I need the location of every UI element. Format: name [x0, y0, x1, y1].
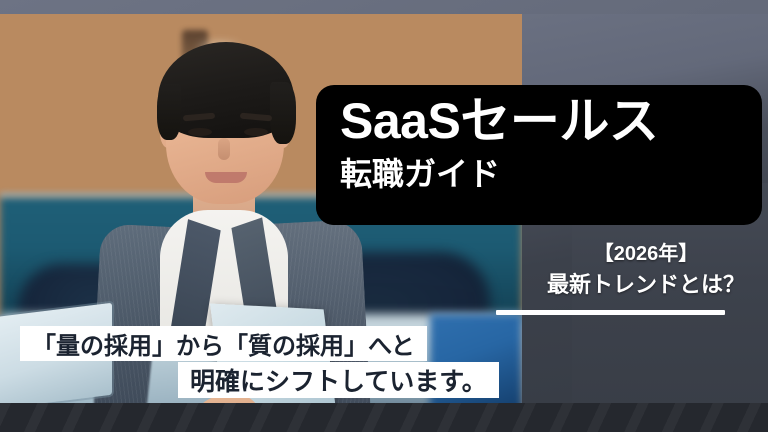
accent-underline: [496, 310, 725, 315]
footer-strip: [0, 403, 768, 432]
photo-eye-left: [188, 128, 212, 136]
trend-question: 最新トレンドとは？: [524, 274, 768, 296]
headline-primary: SaaSセールス: [340, 96, 760, 146]
photo-eye-right: [244, 128, 268, 136]
photo-hair-side-left: [157, 84, 181, 140]
banner-canvas: SaaSセールス 転職ガイド 【2026年】 最新トレンドとは？ 「量の採用」か…: [0, 0, 768, 432]
photo-hair-side-right: [270, 82, 296, 144]
highlight-bar-1: 「量の採用」から「質の採用」へと: [20, 326, 427, 361]
highlight-bar-2: 明確にシフトしています。: [178, 362, 499, 398]
photo-nose: [218, 138, 230, 160]
photo-mouth: [205, 172, 247, 183]
headline-secondary: 転職ガイド: [340, 158, 640, 190]
year-tag: 【2026年】: [530, 244, 762, 264]
